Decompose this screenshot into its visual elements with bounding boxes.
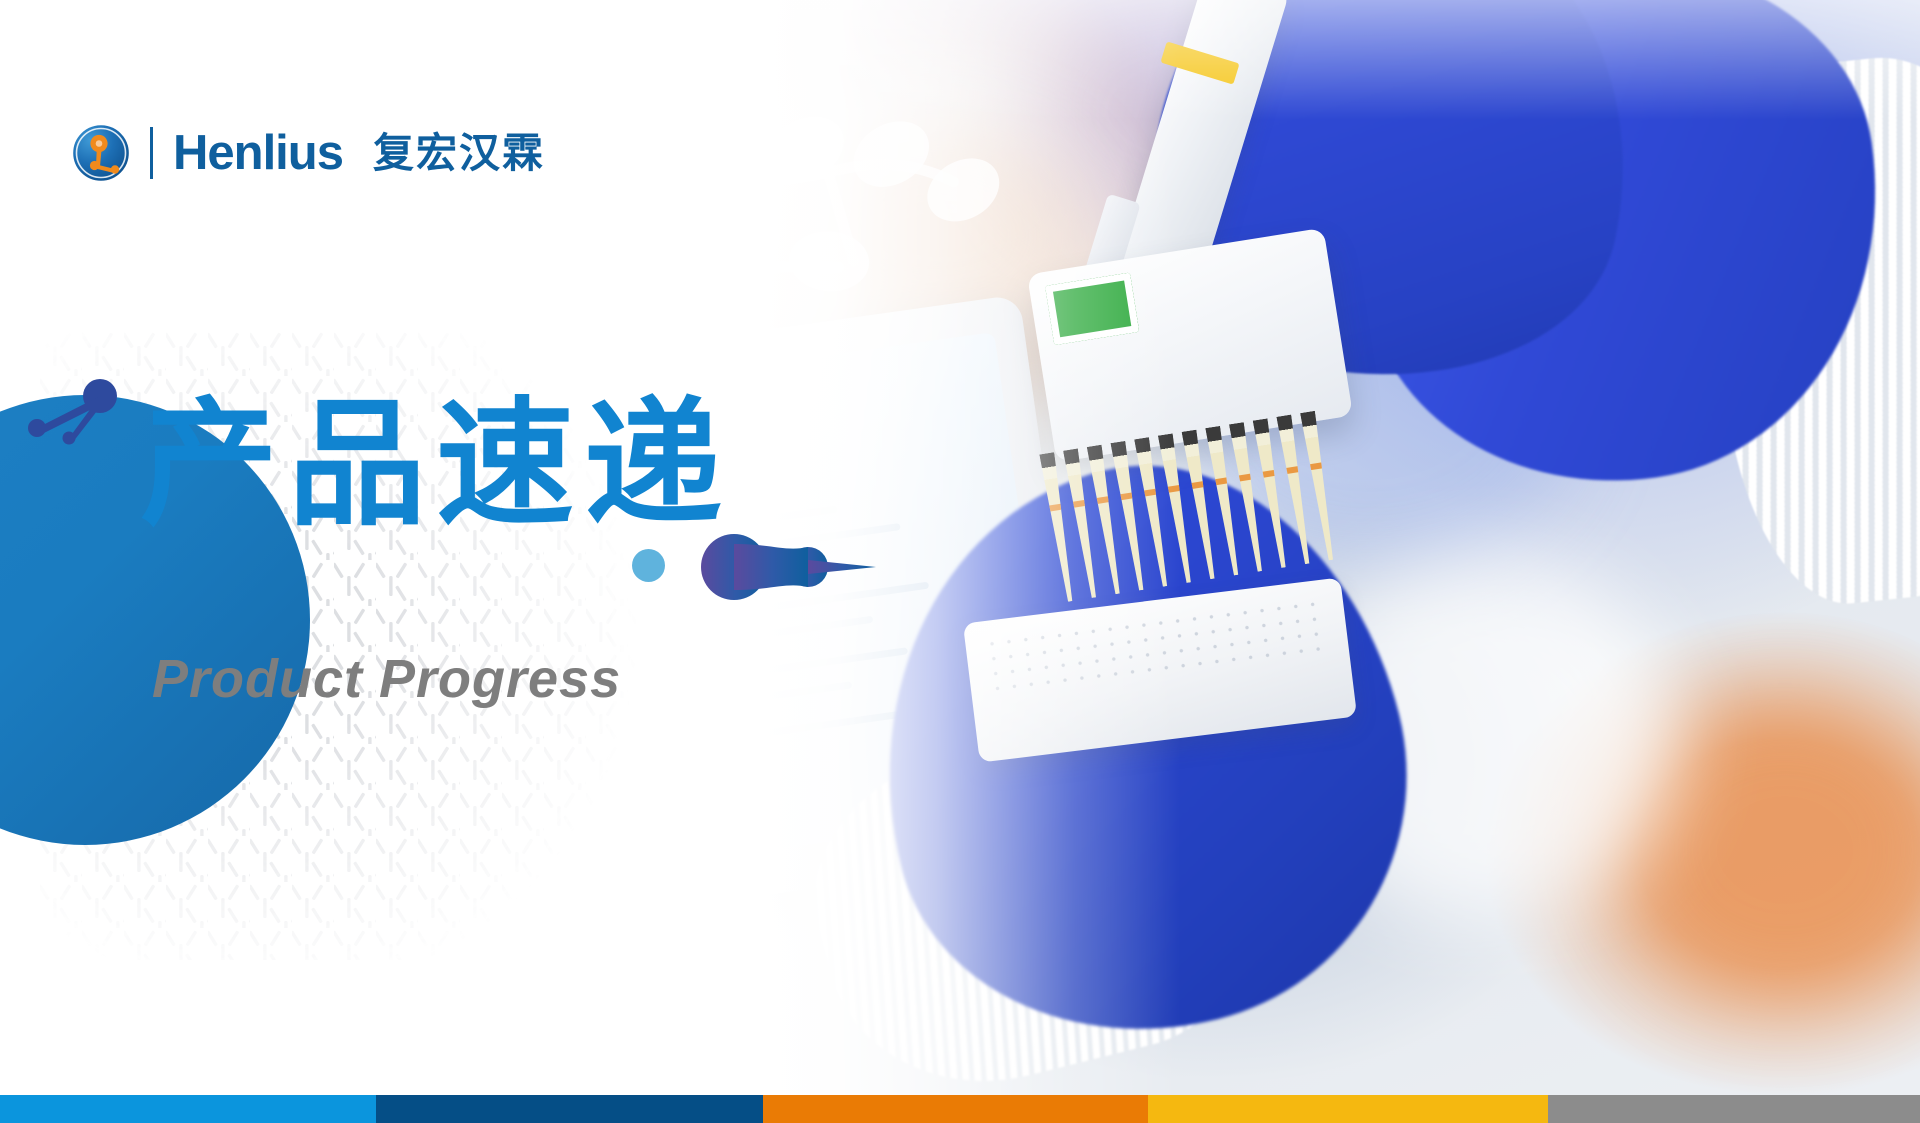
color-bar-segment-navy-blue xyxy=(376,1095,763,1123)
molecule-node-icon xyxy=(24,378,134,450)
gradient-molecule-icon xyxy=(700,530,880,605)
bottom-color-bar xyxy=(0,1095,1920,1123)
page-subtitle-english: Product Progress xyxy=(152,652,621,706)
henlius-molecule-logo-icon xyxy=(70,122,132,184)
page-title-chinese: 产品速递 xyxy=(140,385,732,545)
henlius-logo[interactable]: Henlius 复宏汉霖 xyxy=(70,122,545,184)
color-bar-segment-light-blue xyxy=(0,1095,376,1123)
title-slide: Henlius 复宏汉霖 产品速递 Product Progress xyxy=(0,0,1920,1123)
logo-chinese-name: 复宏汉霖 xyxy=(373,133,545,174)
color-bar-segment-amber-yellow xyxy=(1148,1095,1548,1123)
logo-divider xyxy=(150,127,153,179)
logo-wordmark: Henlius xyxy=(173,129,343,178)
laboratory-photo xyxy=(760,0,1920,1095)
color-bar-segment-gray xyxy=(1548,1095,1920,1123)
photo-top-fade xyxy=(760,0,1920,120)
color-bar-segment-orange xyxy=(763,1095,1148,1123)
decorative-dot-icon xyxy=(632,549,665,582)
